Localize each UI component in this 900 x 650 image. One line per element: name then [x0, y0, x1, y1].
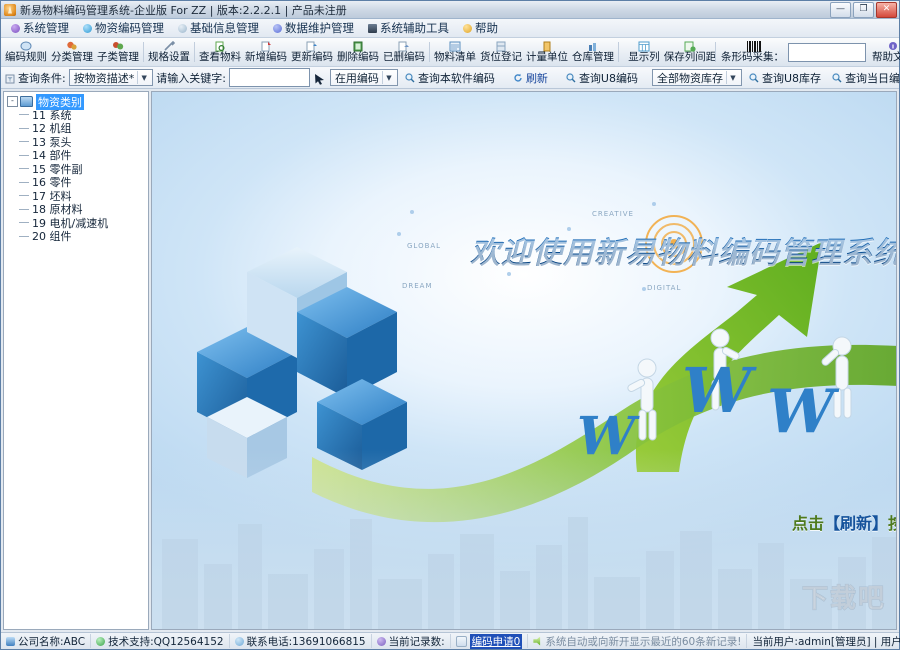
refresh-doc-icon: [306, 41, 318, 52]
diamond-icon: [20, 41, 32, 52]
toolbar-button-deleted-codes[interactable]: 已删编码: [381, 39, 427, 65]
qq-icon: [96, 637, 105, 646]
folder-icon: [20, 96, 33, 107]
columns-icon: [638, 41, 650, 52]
code-state-select[interactable]: 在用编码 ▼: [330, 69, 398, 86]
query-local-codes-button[interactable]: 查询本软件编码: [401, 69, 499, 86]
status-record-count: 当前记录数:: [372, 634, 451, 648]
toolbar-button-display-columns[interactable]: 显示列: [621, 39, 667, 65]
toolbar-button-delete-code[interactable]: 删除编码: [335, 39, 381, 65]
toolbar-button-coding-rules[interactable]: 编码规则: [3, 39, 49, 65]
www-letter-graphic: W: [767, 372, 847, 452]
toolbar-button-unit[interactable]: 计量单位: [524, 39, 570, 65]
status-bar: 公司名称:ABC 技术支持:QQ12564152 联系电话:1369106681…: [1, 632, 899, 649]
svg-text:W: W: [682, 354, 757, 427]
window-controls: — ❐ ✕: [830, 2, 897, 18]
menu-item-label: 物资编码管理: [95, 20, 164, 36]
search-icon: [832, 73, 842, 83]
city-skyline-graphic: [152, 479, 896, 629]
toolbar-button-label: 查看物料: [199, 52, 241, 63]
query-button-label: 查询本软件编码: [418, 70, 495, 86]
toolbar-button-label: 货位登记: [480, 52, 522, 63]
phone-icon: [235, 637, 244, 646]
keyword-input[interactable]: [229, 68, 310, 87]
tree-expander-icon[interactable]: -: [7, 96, 18, 107]
tree-item[interactable]: 16 零件: [7, 176, 148, 190]
maximize-button[interactable]: ❐: [853, 2, 874, 18]
tree-item[interactable]: 13 泵头: [7, 135, 148, 149]
tree-item[interactable]: 12 机组: [7, 122, 148, 136]
hint-emphasis: 【刷新】: [824, 514, 888, 533]
query-button-label: 查询U8库存: [762, 70, 821, 86]
toolbar-button-label: 编码规则: [5, 52, 47, 63]
search-icon: [405, 73, 415, 83]
menu-item-label: 帮助: [475, 20, 498, 36]
query-button-label: 刷新: [526, 70, 548, 86]
toolbar-button-label: 已删编码: [383, 52, 425, 63]
menu-item-system-tools[interactable]: 系统辅助工具: [362, 20, 455, 36]
minimize-icon: —: [836, 5, 845, 14]
list-icon: [449, 41, 461, 52]
status-code-request[interactable]: 编码申请0: [451, 634, 529, 648]
barcode-icon: [747, 41, 759, 52]
toolbar-button-label: 子类管理: [97, 52, 139, 63]
cursor-arrow-icon: [313, 73, 327, 83]
search-icon: [749, 73, 759, 83]
barcode-input[interactable]: [788, 43, 866, 62]
status-current-user-label: 当前用户:admin[管理员] | 用户组:admin: [752, 634, 900, 649]
refresh-icon: [513, 73, 523, 83]
status-phone-label: 联系电话:13691066815: [247, 634, 366, 649]
stock-scope-value: 全部物资库存: [657, 70, 723, 86]
hint-prefix: 点击: [792, 514, 824, 533]
tree-branch-icon: [19, 128, 29, 129]
menu-bar: 系统管理 物资编码管理 基础信息管理 数据维护管理 系统辅助工具 帮助: [1, 19, 899, 38]
tree-item[interactable]: 15 零件副: [7, 162, 148, 176]
tree-branch-icon: [19, 182, 29, 183]
menu-item-system[interactable]: 系统管理: [5, 20, 75, 36]
toolbar-button-label: 仓库管理: [572, 52, 614, 63]
search-doc-icon: [214, 41, 226, 52]
toolbar-button-label: 规格设置: [148, 52, 190, 63]
toolbar-button-label: 新增编码: [245, 52, 287, 63]
refresh-hint-text: 点击【刷新】按钮查看最新编码: [792, 510, 896, 534]
toolbar-button-help-file[interactable]: 帮助文件: [870, 39, 900, 65]
status-right-group: 当前用户:admin[管理员] | 用户组:admin: [746, 634, 900, 648]
menu-item-label: 系统管理: [23, 20, 69, 36]
status-code-request-link[interactable]: 编码申请0: [470, 634, 523, 649]
query-u8-codes-button[interactable]: 查询U8编码: [562, 69, 642, 86]
circle-icon: [178, 24, 187, 33]
disc-icon: [83, 24, 92, 33]
toolbar-separator: [143, 42, 144, 62]
category-tree-panel: - 物资类别 11 系统 12 机组 13 泵头 14 部件 15 零件副 16…: [3, 91, 149, 630]
status-company-label: 公司名称:ABC: [18, 634, 85, 649]
site-watermark: 下载吧: [802, 578, 886, 615]
chevron-down-icon: ▼: [382, 71, 395, 84]
query-condition-select[interactable]: 按物资描述* ▼: [69, 69, 154, 86]
menu-item-label: 数据维护管理: [285, 20, 354, 36]
window-icon: [456, 636, 467, 647]
keyword-label: 请输入关键字:: [156, 70, 226, 86]
minimize-button[interactable]: —: [830, 2, 851, 18]
tree-branch-icon: [19, 222, 29, 223]
toolbar-button-spec-settings[interactable]: 规格设置: [146, 39, 192, 65]
tree-branch-icon: [19, 236, 29, 237]
menu-item-material-coding[interactable]: 物资编码管理: [77, 20, 170, 36]
tree-branch-icon: [19, 114, 29, 115]
query-button-label: 查询当日编码: [845, 70, 900, 86]
toolbar-button-update-code[interactable]: 更新编码: [289, 39, 335, 65]
status-company: 公司名称:ABC: [1, 634, 91, 648]
category-tree: - 物资类别 11 系统 12 机组 13 泵头 14 部件 15 零件副 16…: [4, 92, 148, 243]
toolbar-button-save-columns[interactable]: 保存列间距: [667, 39, 713, 65]
status-current-user: 当前用户:admin[管理员] | 用户组:admin: [746, 634, 900, 648]
svg-text:W: W: [767, 377, 840, 447]
new-doc-icon: [260, 41, 272, 52]
tree-branch-icon: [19, 209, 29, 210]
sync-icon: [273, 24, 282, 33]
delete-doc-icon: [352, 41, 364, 52]
toolbar-button-location-register[interactable]: 货位登记: [478, 39, 524, 65]
home-icon: [6, 637, 15, 646]
close-button[interactable]: ✕: [876, 2, 897, 18]
balloons-icon: [112, 41, 124, 52]
tree-item[interactable]: 11 系统: [7, 108, 148, 122]
status-support-label: 技术支持:QQ12564152: [108, 634, 224, 649]
tree-branch-icon: [19, 195, 29, 196]
toolbar-button-label: 更新编码: [291, 52, 333, 63]
welcome-banner: CREATIVE GLOBAL DREAM DIGITAL: [152, 92, 896, 629]
chevron-down-icon: ▼: [726, 71, 739, 84]
banner-heading: 欢迎使用新易物料编码管理系统 拖拽上传: [470, 228, 896, 272]
banner-title-text: 欢迎使用新易物料编码管理系统: [470, 228, 896, 272]
refresh-button[interactable]: 刷新: [509, 69, 552, 86]
menu-item-label: 基础信息管理: [190, 20, 259, 36]
speaker-icon: [533, 637, 542, 646]
query-bar: 查询条件: 按物资描述* ▼ 请输入关键字: 在用编码 ▼ 查询本软件编码 刷新: [1, 67, 899, 89]
toolbar-separator: [618, 42, 619, 62]
tree-item[interactable]: 19 电机/减速机: [7, 216, 148, 230]
status-notice-label: 系统自动或向新开显示最近的60条新记录!: [545, 634, 741, 649]
tree-item[interactable]: 20 组件: [7, 230, 148, 244]
toolbar-button-label: 物料清单: [434, 52, 476, 63]
toolbar-barcode-capture: 条形码采集：: [718, 39, 787, 65]
query-today-codes-button[interactable]: 查询当日编码: [828, 69, 900, 86]
query-u8-stock-button[interactable]: 查询U8库存: [745, 69, 825, 86]
tree-branch-icon: [19, 141, 29, 142]
tree-branch-icon: [19, 155, 29, 156]
wrench-icon: [163, 41, 175, 52]
toolbar-separator: [194, 42, 195, 62]
main-toolbar: 编码规则 分类管理 子类管理 规格设置 查看物料: [1, 38, 899, 67]
status-notice: 系统自动或向新开显示最近的60条新记录!: [528, 634, 746, 648]
toolbar-button-warehouse[interactable]: 仓库管理: [570, 39, 616, 65]
query-condition-value: 按物资描述*: [74, 70, 135, 86]
save-columns-icon: [684, 41, 696, 52]
toolbar-button-label: 帮助文件: [872, 52, 900, 63]
info-icon: [887, 41, 899, 52]
toolbar-separator: [715, 42, 716, 62]
status-record-count-label: 当前记录数:: [389, 634, 445, 649]
status-phone: 联系电话:13691066815: [230, 634, 372, 648]
toolbar-button-label: 条形码采集：: [721, 52, 784, 63]
www-letter-graphic: W: [682, 352, 762, 432]
title-bar: 新易物料编码管理系统-企业版 For ZZ | 版本:2.2.2.1 | 产品未…: [1, 1, 899, 19]
tree-branch-icon: [19, 168, 29, 169]
status-support: 技术支持:QQ12564152: [91, 634, 230, 648]
code-state-value: 在用编码: [335, 70, 379, 86]
unit-icon: [541, 41, 553, 52]
toolbar-separator: [429, 42, 430, 62]
toolbar-button-label: 显示列: [628, 52, 660, 63]
toolbar-button-material-list[interactable]: 物料清单: [432, 39, 478, 65]
menu-item-data-maintenance[interactable]: 数据维护管理: [267, 20, 360, 36]
record-icon: [377, 637, 386, 646]
query-button-label: 查询U8编码: [579, 70, 638, 86]
menu-item-label: 系统辅助工具: [380, 20, 449, 36]
stock-scope-select[interactable]: 全部物资库存 ▼: [652, 69, 742, 86]
toolbar-button-category[interactable]: 分类管理: [49, 39, 95, 65]
app-flame-icon: [4, 4, 16, 16]
info-icon: [463, 24, 472, 33]
toolbar-button-label: 删除编码: [337, 52, 379, 63]
menu-item-help[interactable]: 帮助: [457, 20, 504, 36]
toolbar-button-subcategory[interactable]: 子类管理: [95, 39, 141, 65]
warehouse-icon: [587, 41, 599, 52]
chevron-down-icon: ▼: [137, 71, 150, 84]
toolbar-button-label: 分类管理: [51, 52, 93, 63]
tree-item-label: 20 组件: [32, 228, 72, 244]
main-body: - 物资类别 11 系统 12 机组 13 泵头 14 部件 15 零件副 16…: [1, 89, 899, 632]
toolbar-button-label: 保存列间距: [664, 52, 717, 63]
trash-doc-icon: [398, 41, 410, 52]
shelf-icon: [495, 41, 507, 52]
tools-icon: [368, 24, 377, 33]
toolbar-button-label: 计量单位: [526, 52, 568, 63]
balloon-icon: [66, 41, 78, 52]
maximize-icon: ❐: [859, 5, 867, 14]
gear-icon: [11, 24, 20, 33]
query-condition-label: 查询条件:: [18, 70, 66, 86]
welcome-content-panel: CREATIVE GLOBAL DREAM DIGITAL: [151, 91, 897, 630]
hint-suffix: 按钮查看最新编码: [888, 514, 896, 533]
search-icon: [566, 73, 576, 83]
filter-icon: [5, 73, 15, 83]
tree-root-node[interactable]: - 物资类别: [7, 95, 148, 108]
application-window: 新易物料编码管理系统-企业版 For ZZ | 版本:2.2.2.1 | 产品未…: [0, 0, 900, 650]
menu-item-basic-info[interactable]: 基础信息管理: [172, 20, 265, 36]
toolbar-button-view-material[interactable]: 查看物料: [197, 39, 243, 65]
window-title: 新易物料编码管理系统-企业版 For ZZ | 版本:2.2.2.1 | 产品未…: [20, 2, 347, 18]
toolbar-button-add-code[interactable]: 新增编码: [243, 39, 289, 65]
close-icon: ✕: [883, 5, 891, 14]
